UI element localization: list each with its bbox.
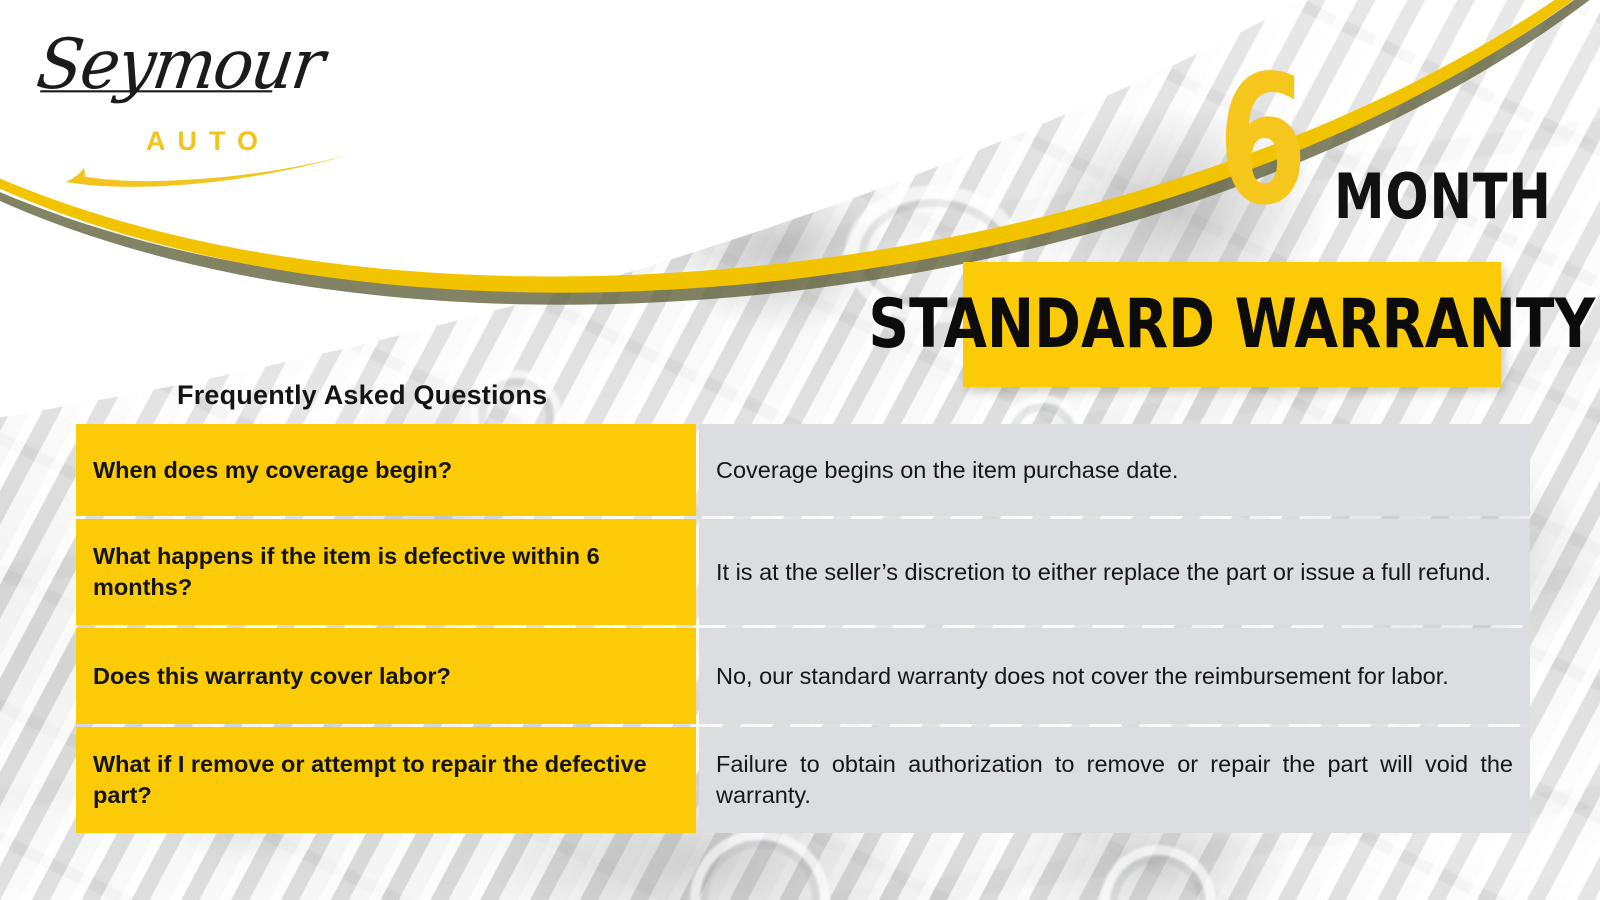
standard-warranty-banner-text: STANDARD WARRANTY bbox=[869, 291, 1596, 359]
faq-answer-cell: It is at the seller’s discretion to eith… bbox=[699, 519, 1530, 625]
faq-answer-cell: Coverage begins on the item purchase dat… bbox=[699, 424, 1530, 516]
logo-swoosh-icon bbox=[64, 148, 354, 192]
logo[interactable]: Seymour AUTO bbox=[34, 22, 334, 182]
faq-question-cell: Does this warranty cover labor? bbox=[76, 628, 696, 724]
duration-unit: MONTH bbox=[1334, 166, 1552, 228]
faq-question-cell: When does my coverage begin? bbox=[76, 424, 696, 516]
standard-warranty-banner: STANDARD WARRANTY bbox=[963, 262, 1501, 387]
faq-row: Does this warranty cover labor? No, our … bbox=[76, 628, 1530, 724]
faq-row: When does my coverage begin? Coverage be… bbox=[76, 424, 1530, 516]
faq-table: When does my coverage begin? Coverage be… bbox=[73, 421, 1533, 836]
faq-answer-cell: Failure to obtain authorization to remov… bbox=[699, 727, 1530, 833]
faq-question-cell: What happens if the item is defective wi… bbox=[76, 519, 696, 625]
faq-row: What happens if the item is defective wi… bbox=[76, 519, 1530, 625]
faq-row: What if I remove or attempt to repair th… bbox=[76, 727, 1530, 833]
logo-script-text: Seymour bbox=[32, 24, 327, 105]
faq-heading: Frequently Asked Questions bbox=[177, 380, 547, 411]
warranty-slide: Seymour AUTO 6 MONTH STANDARD WARRANTY F… bbox=[0, 0, 1600, 900]
faq-answer-cell: No, our standard warranty does not cover… bbox=[699, 628, 1530, 724]
faq-question-cell: What if I remove or attempt to repair th… bbox=[76, 727, 696, 833]
duration-number: 6 bbox=[1218, 68, 1303, 214]
